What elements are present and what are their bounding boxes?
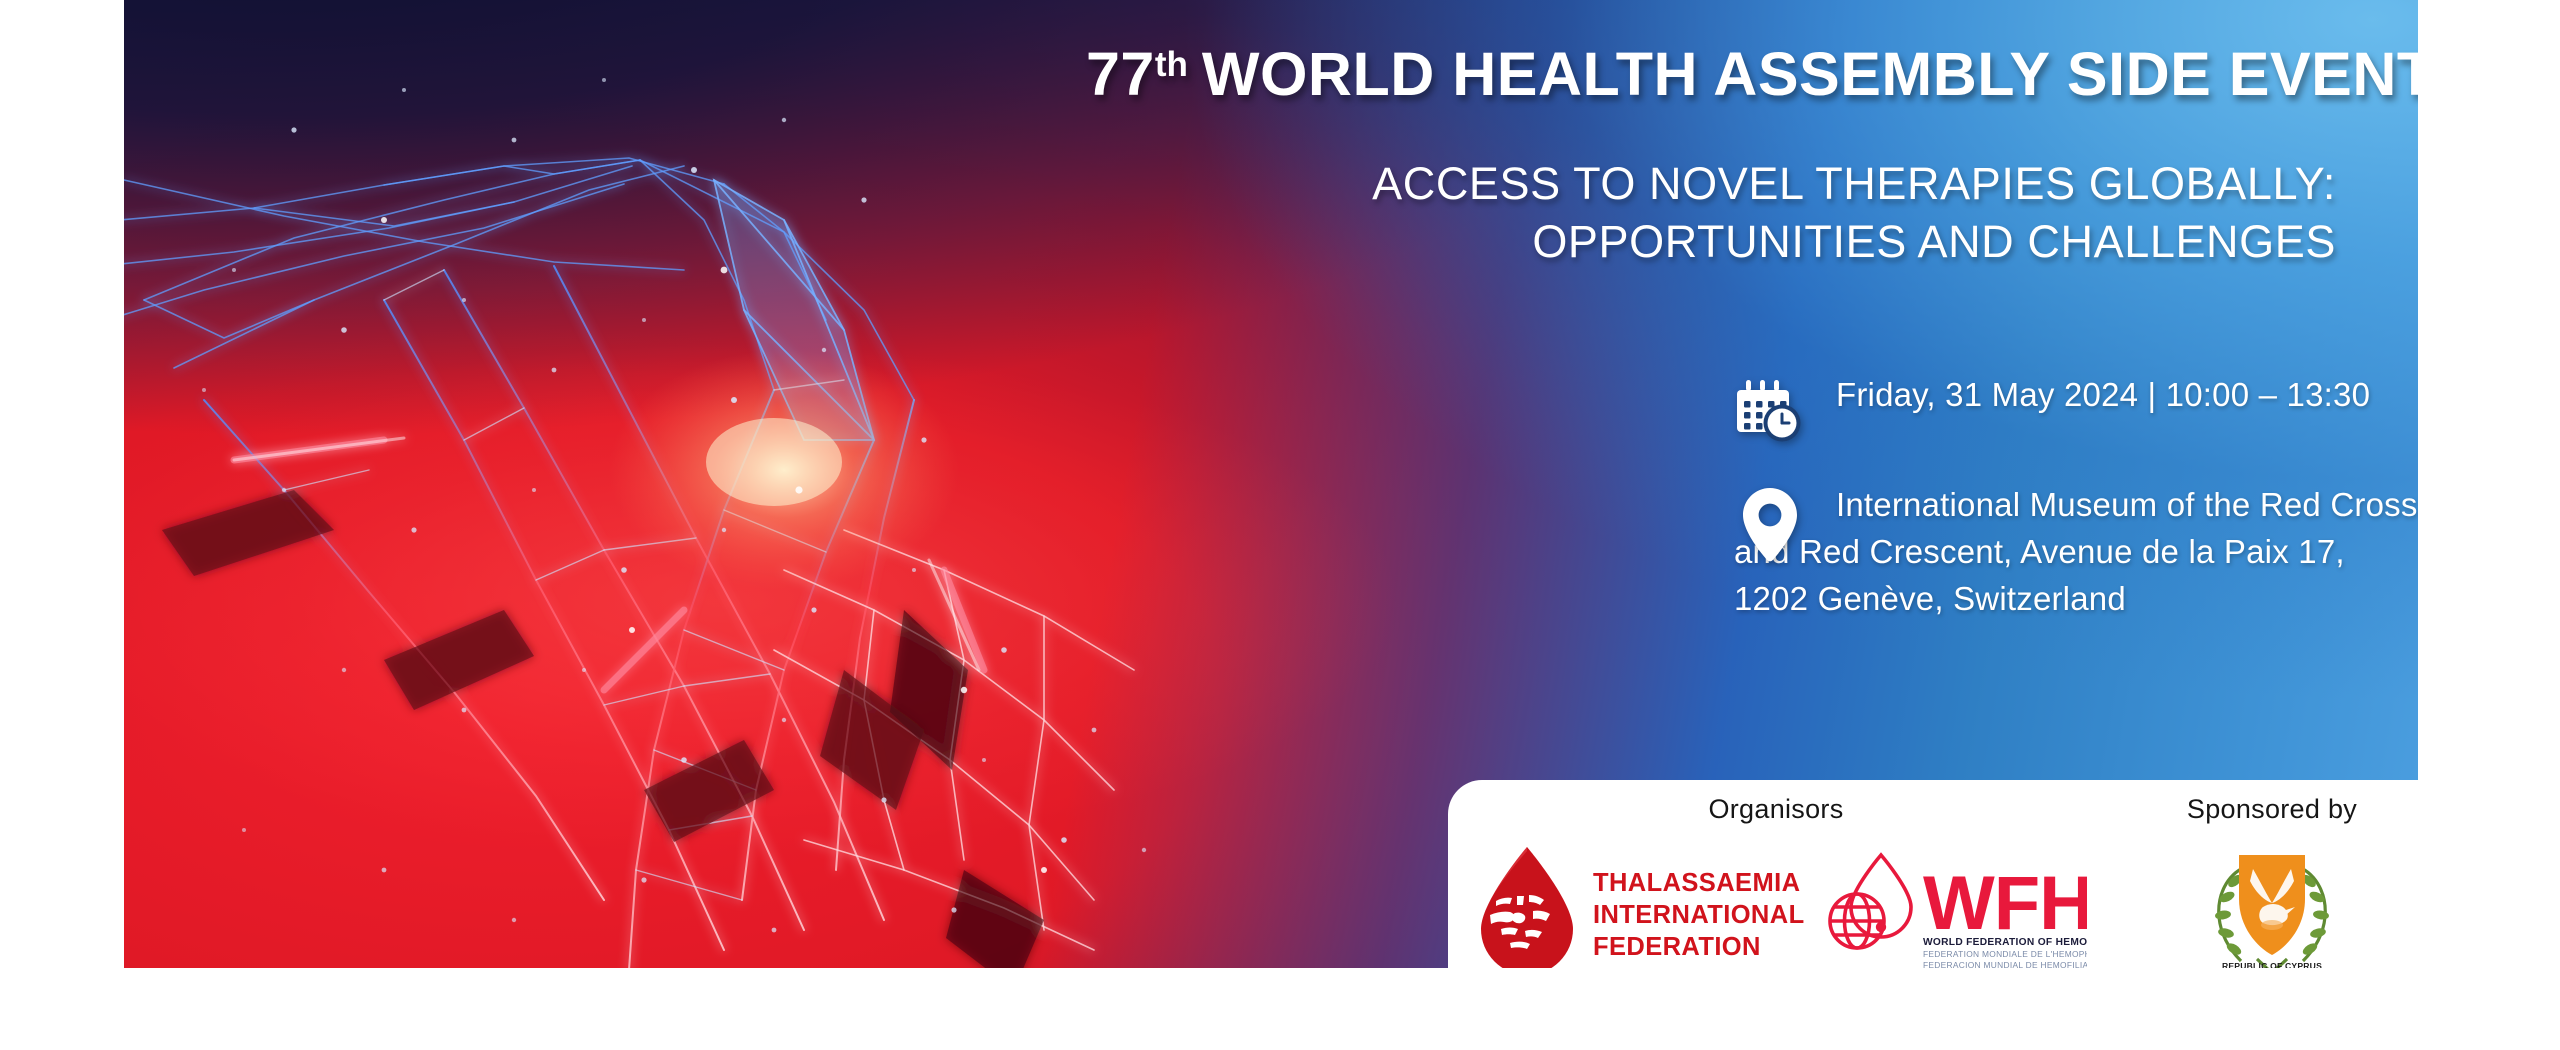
blood-drop-world-map-icon xyxy=(1481,847,1573,968)
location-line-3: 1202 Genève, Switzerland xyxy=(1734,580,2126,617)
cyprus-name-line-1: REPUBLIC OF CYPRUS xyxy=(2222,961,2322,968)
organisers-group: Organisors xyxy=(1456,780,2096,968)
partner-logo-card: Organisors xyxy=(1448,780,2418,968)
location-line-1: International Museum of the Red Cross xyxy=(1836,486,2418,523)
logo-thalassaemia-international-federation[interactable]: THALASSAEMIA INTERNATIONAL FEDERATION xyxy=(1465,843,1805,968)
sponsor-label: Sponsored by xyxy=(2136,794,2408,825)
wfh-acronym: WFH xyxy=(1923,861,2087,946)
title-main-text: WORLD HEALTH ASSEMBLY SIDE EVENT xyxy=(1202,40,2418,108)
event-date-row: Friday, 31 May 2024 | 10:00 – 13:30 xyxy=(1734,372,2418,442)
bottom-white-strip xyxy=(0,968,2560,1050)
tif-name-line-3: FEDERATION xyxy=(1593,933,1761,961)
logo-world-federation-of-hemophilia[interactable]: WFH WORLD FEDERATION OF HEMOPHILIA FEDER… xyxy=(1819,845,2087,968)
title-ordinal-suffix: th xyxy=(1155,45,1188,84)
tif-name-line-1: THALASSAEMIA xyxy=(1593,869,1800,897)
event-details: Friday, 31 May 2024 | 10:00 – 13:30 Inte… xyxy=(1734,372,2418,623)
subtitle-line-1: ACCESS TO NOVEL THERAPIES GLOBALLY: xyxy=(1372,158,2336,209)
wfh-name-line-1: WORLD FEDERATION OF HEMOPHILIA xyxy=(1923,937,2087,948)
event-location-text: International Museum of the Red Cross an… xyxy=(1734,480,2418,617)
organiser-logos: THALASSAEMIA INTERNATIONAL FEDERATION xyxy=(1456,834,2096,968)
sponsor-group: Sponsored by xyxy=(2136,780,2408,968)
location-line-2: and Red Crescent, Avenue de la Paix 17, xyxy=(1734,533,2345,570)
organisers-label: Organisors xyxy=(1456,794,2096,825)
page-title: 77thWORLD HEALTH ASSEMBLY SIDE EVENT xyxy=(1086,42,2336,106)
calendar-clock-icon xyxy=(1734,376,1806,454)
cyprus-coat-of-arms-icon xyxy=(2214,855,2329,968)
tif-name-line-2: INTERNATIONAL xyxy=(1593,901,1805,929)
title-ordinal-number: 77 xyxy=(1086,40,1155,108)
location-pin-icon xyxy=(1734,488,1806,566)
sponsor-logos: REPUBLIC OF CYPRUS MINISTRY OF HEALTH xyxy=(2136,834,2408,968)
wfh-name-line-3: FEDERACION MUNDIAL DE HEMOFILIA xyxy=(1923,960,2087,968)
event-location-row: International Museum of the Red Cross an… xyxy=(1734,482,2418,623)
event-banner: 77thWORLD HEALTH ASSEMBLY SIDE EVENT ACC… xyxy=(124,0,2418,968)
subtitle-line-2: OPPORTUNITIES AND CHALLENGES xyxy=(1532,216,2336,267)
logo-republic-of-cyprus-ministry-of-health[interactable]: REPUBLIC OF CYPRUS MINISTRY OF HEALTH xyxy=(2187,841,2357,968)
event-date-text: Friday, 31 May 2024 | 10:00 – 13:30 xyxy=(1836,362,2370,413)
globe-blood-drop-icon xyxy=(1830,855,1911,948)
page-subtitle: ACCESS TO NOVEL THERAPIES GLOBALLY: OPPO… xyxy=(1086,155,2336,270)
wfh-name-line-2: FEDERATION MONDIALE DE L'HEMOPHILIE xyxy=(1923,949,2087,959)
